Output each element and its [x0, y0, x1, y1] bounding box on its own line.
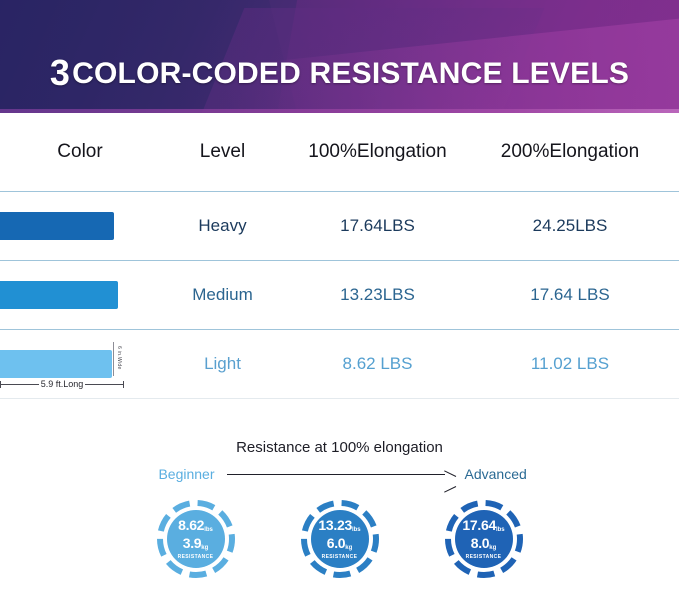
band-swatch-medium — [0, 281, 118, 309]
dial-lbs-row: 8.62lbs — [178, 518, 213, 533]
row-elongation-100: 8.62 LBS — [285, 354, 470, 374]
dial-kg-value: 6.0 — [327, 535, 346, 551]
dial-kg-unit: kg — [489, 545, 496, 551]
dial-kg-value: 8.0 — [471, 535, 490, 551]
header-banner: 3COLOR-CODED RESISTANCE LEVELS — [0, 0, 679, 113]
row-elongation-200: 11.02 LBS — [470, 354, 670, 374]
dial-caption: RESISTANCE — [466, 555, 502, 560]
row-elongation-200: 17.64 LBS — [470, 285, 670, 305]
arrow-shaft — [227, 474, 445, 475]
resistance-dial: 13.23lbs 6.0kg RESISTANCE — [301, 500, 379, 578]
resistance-dial: 8.62lbs 3.9kg RESISTANCE — [157, 500, 235, 578]
title-number: 3 — [50, 52, 70, 93]
resistance-scale-section: Resistance at 100% elongation Beginner A… — [0, 399, 679, 578]
row-level-label: Heavy — [160, 216, 285, 236]
scale-title: Resistance at 100% elongation — [0, 439, 679, 456]
dial-kg-unit: kg — [201, 545, 208, 551]
row-elongation-100: 17.64LBS — [285, 216, 470, 236]
length-dimension-label: 5.9 ft.Long — [39, 379, 86, 389]
scale-axis: Beginner Advanced — [0, 466, 679, 482]
dimension-line-right — [85, 384, 123, 385]
dial-kg-row: 6.0kg — [327, 536, 353, 551]
column-header-elongation-200: 200%Elongation — [470, 141, 670, 163]
band-swatch-cell — [0, 261, 160, 329]
scale-label-advanced: Advanced — [455, 466, 569, 482]
dial-kg-row: 8.0kg — [471, 536, 497, 551]
dial-lbs-value: 8.62 — [178, 517, 204, 533]
dial-lbs-row: 17.64lbs — [462, 518, 504, 533]
column-header-elongation-100: 100%Elongation — [285, 141, 470, 163]
dial-kg-unit: kg — [345, 545, 352, 551]
width-dimension-label: 6 in.Wide — [116, 346, 122, 370]
dial-lbs-row: 13.23lbs — [318, 518, 360, 533]
dial-lbs-value: 13.23 — [318, 517, 352, 533]
dial-content: 8.62lbs 3.9kg RESISTANCE — [157, 500, 235, 578]
band-swatch-light — [0, 350, 112, 378]
arrow-head — [443, 467, 455, 481]
dial-kg-value: 3.9 — [183, 535, 202, 551]
row-elongation-200: 24.25LBS — [470, 216, 670, 236]
length-dimension: 5.9 ft.Long — [0, 377, 124, 391]
table-header-row: Color Level 100%Elongation 200%Elongatio… — [0, 113, 679, 191]
dial-content: 17.64lbs 8.0kg RESISTANCE — [445, 500, 523, 578]
dial-lbs-value: 17.64 — [462, 517, 496, 533]
column-header-color: Color — [0, 141, 160, 163]
dial-lbs-unit: lbs — [496, 527, 505, 533]
row-elongation-100: 13.23LBS — [285, 285, 470, 305]
right-arrow-icon — [227, 467, 455, 481]
title-text: COLOR-CODED RESISTANCE LEVELS — [72, 57, 629, 90]
dial-kg-row: 3.9kg — [183, 536, 209, 551]
dial-content: 13.23lbs 6.0kg RESISTANCE — [301, 500, 379, 578]
band-swatch-heavy — [0, 212, 114, 240]
column-header-level: Level — [160, 141, 285, 163]
table-row: Medium 13.23LBS 17.64 LBS — [0, 261, 679, 329]
row-level-label: Medium — [160, 285, 285, 305]
scale-label-beginner: Beginner — [111, 466, 227, 482]
row-level-label: Light — [160, 354, 285, 374]
dial-caption: RESISTANCE — [322, 555, 358, 560]
dimension-line-left — [1, 384, 39, 385]
band-swatch-cell: 6 in.Wide 5.9 ft.Long — [0, 330, 160, 398]
resistance-table: Color Level 100%Elongation 200%Elongatio… — [0, 113, 679, 399]
table-row: Heavy 17.64LBS 24.25LBS — [0, 192, 679, 260]
page-title: 3COLOR-CODED RESISTANCE LEVELS — [0, 52, 679, 94]
dial-lbs-unit: lbs — [204, 527, 213, 533]
dimension-cap-right — [123, 381, 124, 388]
table-row: 6 in.Wide 5.9 ft.Long Light 8.62 LBS 11.… — [0, 330, 679, 398]
band-swatch-cell — [0, 192, 160, 260]
dial-lbs-unit: lbs — [352, 527, 361, 533]
resistance-dial: 17.64lbs 8.0kg RESISTANCE — [445, 500, 523, 578]
resistance-dials: 8.62lbs 3.9kg RESISTANCE 13.23lbs 6.0kg … — [0, 500, 679, 578]
dial-caption: RESISTANCE — [178, 555, 214, 560]
width-dimension-line — [113, 342, 114, 376]
